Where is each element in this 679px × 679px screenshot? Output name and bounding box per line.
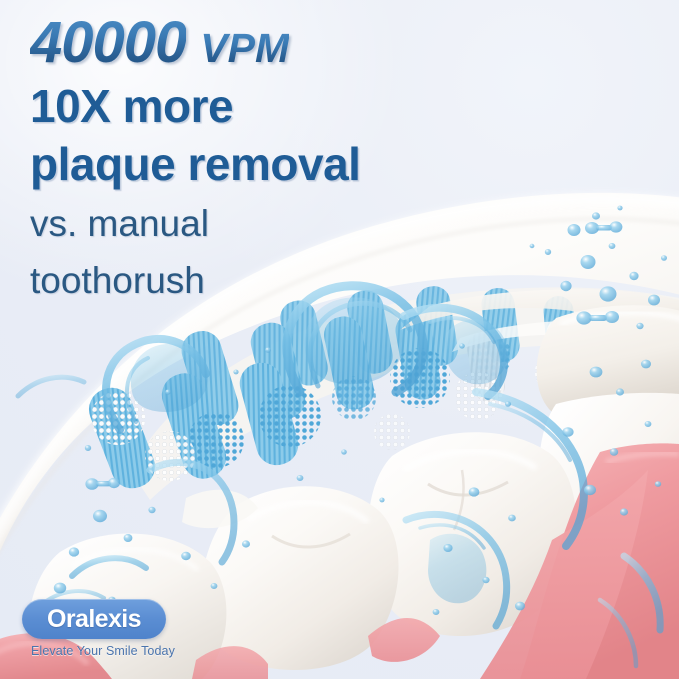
brand-logo: Oralexis Elevate Your Smile Today — [22, 599, 182, 658]
toothbrush-teeth-illustration — [0, 0, 679, 679]
product-banner: 40000 VPM 10X more plaque removal vs. ma… — [0, 0, 679, 679]
brand-name: Oralexis — [47, 607, 141, 632]
brand-tagline: Elevate Your Smile Today — [31, 644, 182, 658]
brand-pill: Oralexis — [22, 599, 166, 639]
